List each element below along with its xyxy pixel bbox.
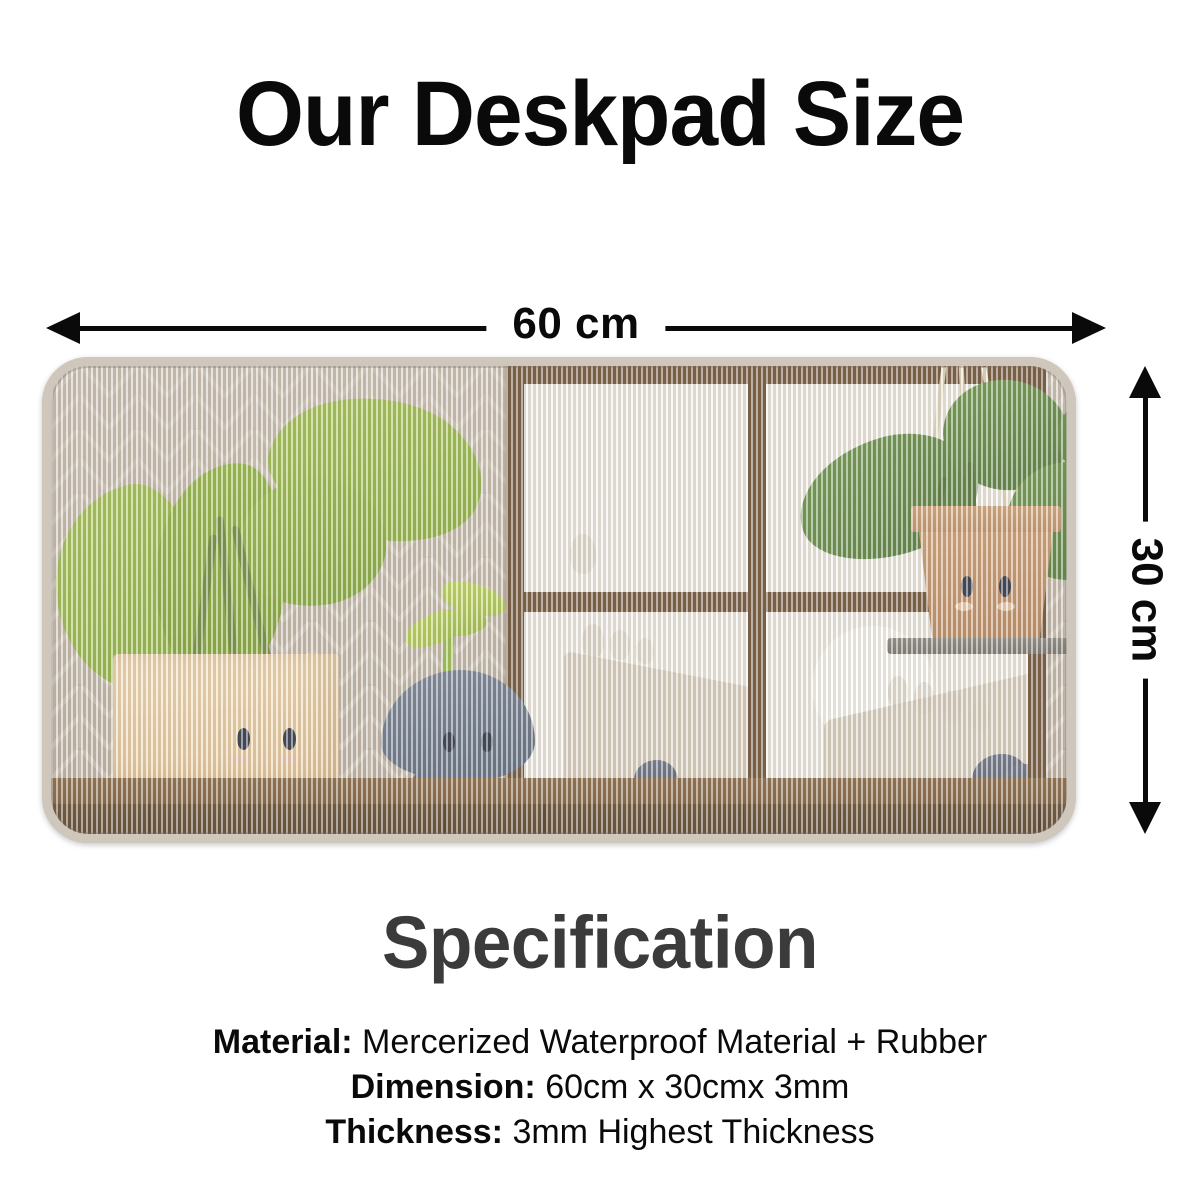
arrow-head-right-icon	[1072, 312, 1106, 344]
width-dimension-label: 60 cm	[486, 296, 665, 351]
width-dimension-arrow: 60 cm	[46, 300, 1106, 358]
arrow-head-left-icon	[46, 312, 80, 344]
spec-label-thickness: Thickness:	[325, 1113, 503, 1151]
infographic-page: Our Deskpad Size 60 cm 30 cm	[0, 0, 1200, 1200]
terracotta-hanging-pot	[919, 532, 1053, 640]
pot-rim	[911, 506, 1061, 532]
specification-heading: Specification	[24, 900, 1176, 985]
tree-silhouette	[914, 682, 934, 714]
tree-silhouette	[970, 700, 990, 732]
spec-row-dimension: Dimension: 60cm x 30cmx 3mm	[0, 1065, 1200, 1110]
beige-rectangular-planter	[113, 654, 339, 782]
window-sill-top	[51, 778, 1067, 804]
spec-row-thickness: Thickness: 3mm Highest Thickness	[0, 1110, 1200, 1155]
height-dimension-arrow: 30 cm	[1118, 366, 1176, 834]
page-title: Our Deskpad Size	[30, 68, 1170, 160]
spec-value-thickness: 3mm Highest Thickness	[503, 1113, 875, 1151]
spec-row-material: Material: Mercerized Waterproof Material…	[0, 1020, 1200, 1065]
arrow-head-down-icon	[1129, 802, 1161, 834]
specification-list: Material: Mercerized Waterproof Material…	[0, 1020, 1200, 1156]
height-dimension-label: 30 cm	[1120, 522, 1175, 679]
hanging-shelf-plank	[887, 638, 1067, 654]
window-pane-top-left	[524, 384, 748, 592]
deskpad-product-image	[42, 357, 1076, 843]
sill-plank-lines	[51, 804, 1067, 834]
spec-label-dimension: Dimension:	[351, 1068, 536, 1106]
deskpad-artwork	[51, 366, 1067, 834]
tree-silhouette	[610, 630, 630, 660]
spec-value-dimension: 60cm x 30cmx 3mm	[536, 1068, 850, 1106]
tree-silhouette	[570, 534, 596, 574]
tree-silhouette	[582, 624, 604, 658]
tree-silhouette	[636, 638, 654, 664]
tree-silhouette	[888, 676, 908, 708]
spec-label-material: Material:	[213, 1023, 353, 1061]
tree-silhouette	[942, 690, 962, 722]
spec-value-material: Mercerized Waterproof Material + Rubber	[353, 1023, 988, 1061]
window-sill-front	[51, 804, 1067, 834]
